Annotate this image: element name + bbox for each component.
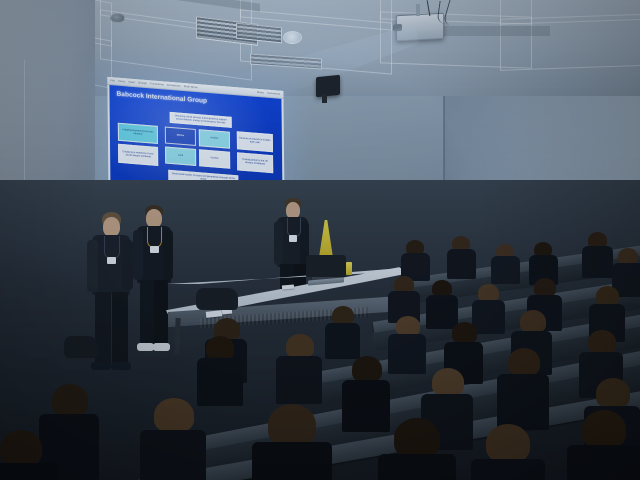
- student-hair: [452, 322, 477, 344]
- menu-item-share[interactable]: Share: [257, 91, 264, 95]
- menu-item-design[interactable]: Design: [138, 81, 147, 85]
- student-hair: [596, 378, 630, 408]
- presenter-2-arm-right: [163, 230, 173, 280]
- bottle-yellow: [346, 262, 352, 275]
- presenter-3-badge: [289, 235, 297, 242]
- presenter-2-shoe-right: [153, 343, 170, 351]
- diagram-box-right-bottom: Trusted partner to the UK Ministry of De…: [237, 152, 273, 173]
- diagram-box-marine: Marine: [165, 126, 196, 146]
- student-hair: [206, 336, 234, 360]
- student-hair: [520, 310, 546, 333]
- student-hair: [432, 368, 464, 396]
- student-hair: [352, 356, 382, 382]
- student-torso: [567, 445, 640, 480]
- presenter-1-shoe-left: [91, 362, 111, 370]
- menu-item-file[interactable]: File: [110, 79, 115, 82]
- presenter-1-leg-right: [112, 292, 128, 364]
- student-torso: [378, 454, 456, 480]
- student-torso: [0, 463, 58, 480]
- menu-item-transitions[interactable]: Transitions: [150, 82, 164, 86]
- holdall-bag: [196, 288, 238, 310]
- student-hair: [582, 410, 626, 448]
- student-hair: [52, 384, 88, 416]
- student-torso: [388, 334, 426, 374]
- diagram-box-land: Land: [165, 147, 196, 167]
- presenter-2-leg-left: [140, 280, 154, 345]
- classroom-scene: File Home Insert Design Transitions Anim…: [0, 0, 640, 480]
- presenter-2-badge: [150, 246, 159, 253]
- presenter-1-badge: [107, 257, 116, 264]
- presenter-2-arm-left: [133, 230, 143, 280]
- student-torso: [426, 295, 458, 329]
- student-torso: [276, 356, 322, 404]
- presenter-1-arm-left: [87, 240, 98, 292]
- diagram-banner: Delivering critical services and enginee…: [170, 112, 232, 128]
- student-torso: [497, 374, 549, 430]
- student-hair: [394, 418, 440, 458]
- diagram-box-aviation: Aviation: [199, 129, 230, 149]
- menu-item-insert[interactable]: Insert: [128, 81, 135, 85]
- floor-bag: [64, 336, 98, 358]
- student-torso: [491, 256, 520, 284]
- student-torso: [447, 249, 476, 279]
- student-torso: [325, 323, 360, 359]
- student-hair: [0, 430, 42, 466]
- student-hair: [268, 404, 316, 446]
- presenter-2-lanyard: [147, 227, 162, 248]
- student-hair: [396, 316, 420, 336]
- ceiling-light-1: [283, 31, 302, 44]
- student-torso: [471, 459, 545, 480]
- student-hair: [596, 286, 619, 306]
- presenter-1-head: [103, 217, 120, 237]
- presenter-2-leg-right: [154, 280, 168, 345]
- wall-speaker-bracket: [322, 94, 327, 103]
- diagram-box-left-bottom: Employing a workforce of over 26,000 peo…: [118, 144, 158, 166]
- student-torso: [197, 358, 243, 406]
- menu-item-animations[interactable]: Animations: [167, 84, 181, 88]
- presenter-1-shoe-right: [111, 362, 131, 370]
- presenter-1-lanyard: [104, 236, 120, 259]
- student-hair: [486, 424, 530, 462]
- student-torso: [472, 300, 505, 334]
- diagram-box-left-top: A leading engineering services company: [118, 123, 158, 144]
- diagram-box-right-top: Revenue of around £4.4 billion each year: [237, 131, 273, 152]
- presenter-3-arm-left: [274, 221, 283, 265]
- student-torso: [342, 380, 390, 432]
- projector-lens: [393, 24, 402, 31]
- student-hair: [286, 334, 314, 358]
- menu-item-slideshow[interactable]: Slide Show: [184, 85, 198, 89]
- presenter-2-shoe-left: [137, 343, 154, 351]
- menu-item-home[interactable]: Home: [118, 80, 125, 84]
- student-hair: [588, 330, 616, 354]
- projector-mount: [416, 4, 420, 16]
- diagram-box-nuclear: Nuclear: [199, 149, 230, 169]
- slide-title: Babcock International Group: [116, 91, 226, 107]
- ceiling-speaker-1: [110, 13, 125, 23]
- student-torso: [252, 442, 332, 480]
- office-chair[interactable]: [306, 255, 346, 277]
- student-torso: [582, 246, 613, 278]
- student-hair: [154, 398, 194, 432]
- student-torso: [140, 430, 206, 480]
- wall-speaker: [316, 75, 340, 98]
- menu-item-comments[interactable]: Comments: [267, 92, 280, 96]
- student-hair: [508, 348, 540, 376]
